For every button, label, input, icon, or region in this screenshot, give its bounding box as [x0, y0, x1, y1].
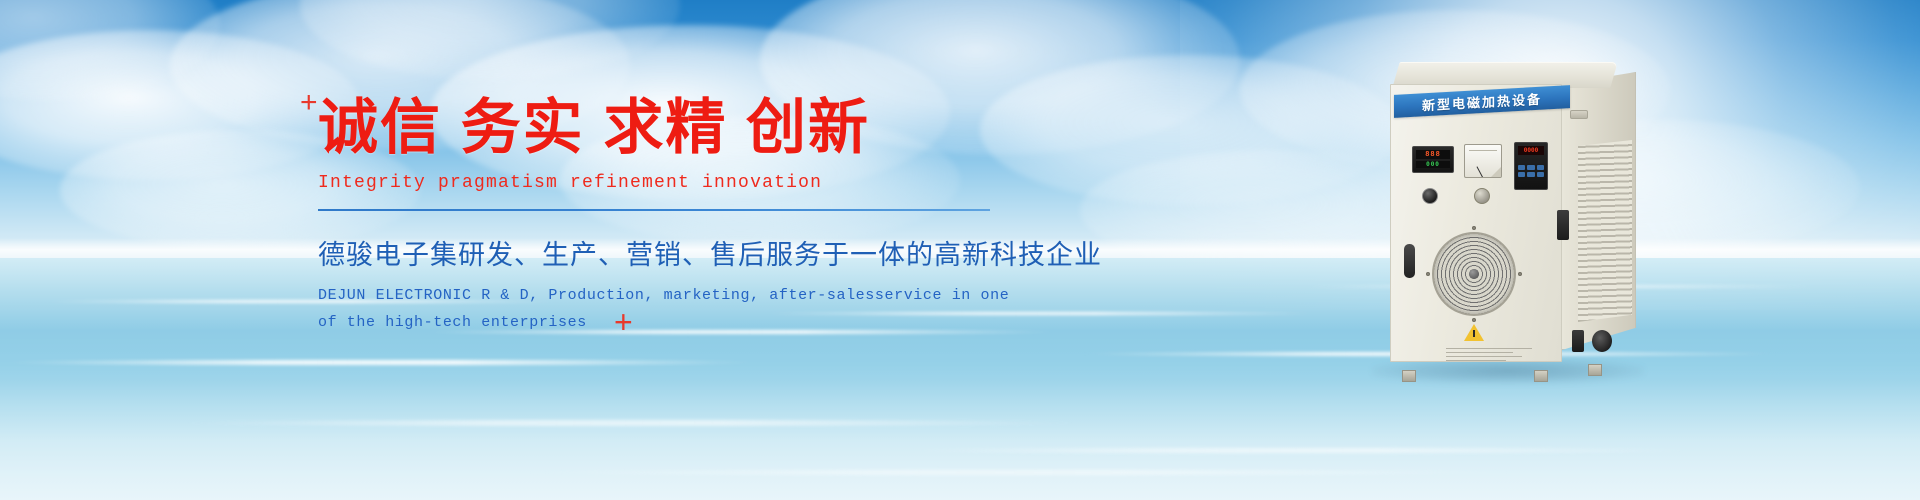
wave-highlight [180, 420, 1080, 426]
subheadline-english-line2: of the high-tech enterprises [318, 311, 1038, 336]
control-keypad: 0000 [1514, 142, 1548, 190]
selector-knob [1422, 188, 1438, 204]
cabinet-foot [1534, 370, 1548, 382]
fan-screw [1518, 272, 1522, 276]
keypad-key [1537, 172, 1544, 177]
banner-copy: 诚信 务实 求精 创新 Integrity pragmatism refinem… [318, 96, 1038, 335]
cooling-fan-grille [1432, 232, 1516, 316]
fan-screw [1472, 318, 1476, 322]
ventilation-grille [1578, 140, 1632, 322]
warning-triangle-icon [1464, 324, 1484, 341]
keypad-key [1537, 165, 1544, 170]
keypad-display: 0000 [1518, 146, 1544, 155]
promo-banner: + + 诚信 务实 求精 创新 Integrity pragmatism ref… [0, 0, 1920, 500]
keypad-buttons [1518, 165, 1544, 177]
plus-mark-icon: + [300, 88, 318, 118]
fan-screw [1426, 272, 1430, 276]
spec-line [1446, 360, 1506, 361]
gauge-dial [1469, 150, 1497, 168]
cabinet-front-panel [1390, 84, 1562, 362]
cloud [300, 0, 680, 80]
temperature-controller-display: 888 000 [1412, 146, 1454, 173]
divider-rule [318, 209, 990, 211]
keypad-key [1518, 165, 1525, 170]
spec-line [1446, 356, 1522, 357]
gauge-needle [1476, 166, 1483, 178]
cabinet-handle [1570, 110, 1588, 119]
product-nameplate-text: 新型电磁加热设备 [1422, 89, 1542, 115]
gauge-corner-bevel [1491, 167, 1501, 177]
power-connector [1592, 330, 1612, 352]
subheadline-english-line1: DEJUN ELECTRONIC R & D, Production, mark… [318, 284, 1038, 309]
headline-chinese: 诚信 务实 求精 创新 [318, 96, 1038, 161]
spec-line [1446, 352, 1513, 353]
wave-highlight [0, 360, 760, 365]
wave-highlight [900, 448, 1700, 453]
specification-sticker [1446, 348, 1532, 364]
keypad-key [1518, 172, 1525, 177]
product-image-heating-equipment: 新型电磁加热设备 888 000 0000 [1390, 62, 1640, 372]
keypad-key [1527, 172, 1534, 177]
side-door-latch [1557, 210, 1569, 240]
fan-screw [1472, 226, 1476, 230]
controller-primary-readout: 888 [1416, 150, 1450, 159]
door-latch [1404, 244, 1415, 278]
controller-secondary-readout: 000 [1416, 161, 1450, 168]
subheadline-chinese: 德骏电子集研发、生产、营销、售后服务于一体的高新科技企业 [318, 233, 1038, 272]
wave-highlight [520, 470, 1520, 475]
cabinet-foot [1588, 364, 1602, 376]
cloud [980, 55, 1400, 205]
keypad-key [1527, 165, 1534, 170]
spec-line [1446, 348, 1532, 349]
bottom-vent [1572, 330, 1584, 352]
cloud [0, 0, 220, 100]
adjustment-knob [1474, 188, 1490, 204]
headline-english: Integrity pragmatism refinement innovati… [318, 173, 1038, 193]
cabinet-foot [1402, 370, 1416, 382]
analog-ammeter-gauge [1464, 144, 1502, 178]
